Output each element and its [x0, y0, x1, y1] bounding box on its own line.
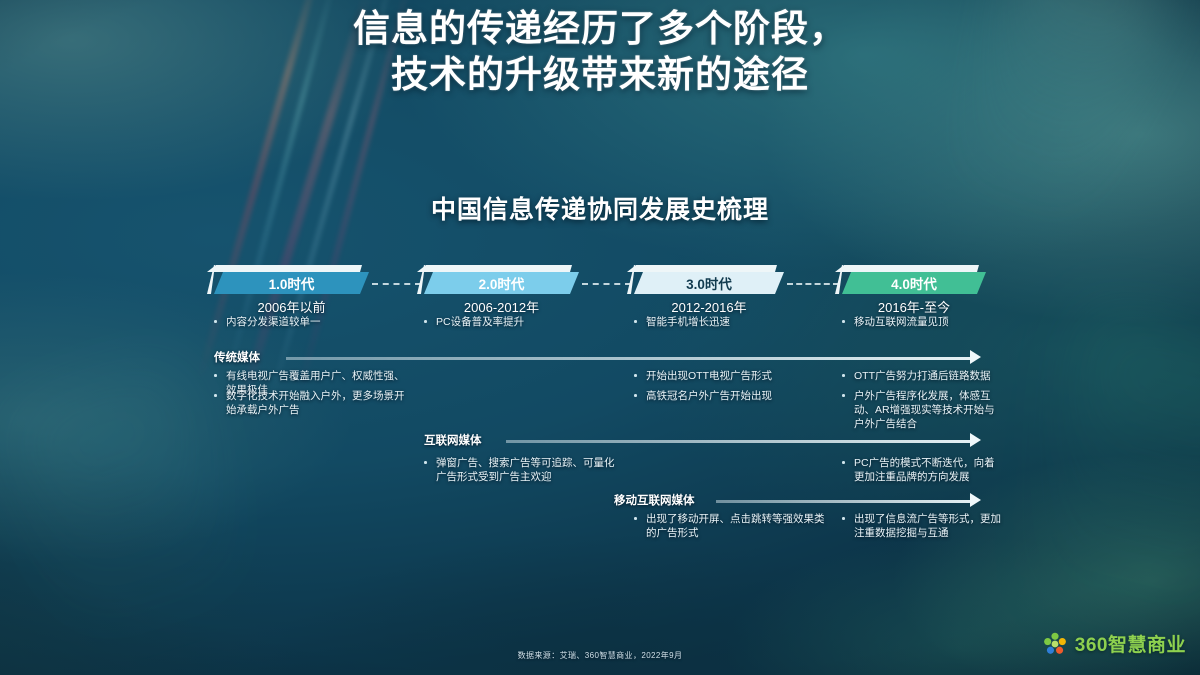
track-2-bullet-1: 弹窗广告、搜索广告等可追踪、可量化广告形式受到广告主欢迎	[424, 456, 624, 484]
track-label-1: 传统媒体	[214, 349, 260, 365]
track-arrow-line-1	[286, 357, 970, 360]
track-arrow-head-3	[970, 493, 981, 507]
bullet-dot	[214, 374, 217, 377]
track-1-bullet-6: 户外广告程序化发展，体感互动、AR增强现实等技术开始与户外广告结合	[842, 389, 1002, 432]
era-4-summary-bullet: 移动互联网流量见顶	[842, 315, 1002, 329]
bullet-dot	[424, 461, 427, 464]
era-years-3: 2012-2016年	[634, 297, 784, 316]
page-title-line-1: 信息的传递经历了多个阶段，	[0, 6, 1200, 52]
bullet-text: 移动互联网流量见顶	[842, 315, 1002, 329]
era-2-summary-bullet: PC设备普及率提升	[424, 315, 624, 329]
track-3-bullet-2: 出现了信息流广告等形式，更加注重数据挖掘与互通	[842, 512, 1002, 540]
era-flag-accent	[207, 265, 362, 272]
track-arrow-line-3	[716, 500, 970, 503]
bullet-text: PC设备普及率提升	[424, 315, 624, 329]
era-years-2: 2006-2012年	[424, 297, 579, 316]
pinwheel-icon	[1042, 631, 1068, 657]
bullet-dot	[842, 374, 845, 377]
bullet-dot	[842, 517, 845, 520]
timeline-era-2[interactable]: 2.0时代2006-2012年	[424, 272, 579, 294]
bullet-text: 内容分发渠道较单一	[214, 315, 414, 329]
track-3: 移动互联网媒体	[0, 492, 1000, 508]
track-label-2: 互联网媒体	[424, 432, 482, 448]
bullet-dot	[842, 320, 845, 323]
bullet-dot	[842, 394, 845, 397]
bullet-dot	[214, 320, 217, 323]
track-2-bullet-2: PC广告的模式不断迭代，向着更加注重品牌的方向发展	[842, 456, 1002, 484]
page-title: 信息的传递经历了多个阶段， 技术的升级带来新的途径	[0, 6, 1200, 98]
bullet-text: 弹窗广告、搜索广告等可追踪、可量化广告形式受到广告主欢迎	[424, 456, 624, 484]
bullet-dot	[634, 394, 637, 397]
bullet-text: 户外广告程序化发展，体感互动、AR增强现实等技术开始与户外广告结合	[842, 389, 1002, 432]
bullet-text: 出现了移动开屏、点击跳转等强效果类的广告形式	[634, 512, 834, 540]
bullet-dot	[634, 374, 637, 377]
era-connector-1	[372, 283, 421, 285]
bullet-dot	[842, 461, 845, 464]
bullet-text: PC广告的模式不断迭代，向着更加注重品牌的方向发展	[842, 456, 1002, 484]
bullet-dot	[214, 394, 217, 397]
era-years-1: 2006年以前	[214, 297, 369, 316]
track-3-bullet-1: 出现了移动开屏、点击跳转等强效果类的广告形式	[634, 512, 834, 540]
era-3-summary-bullet: 智能手机增长迅速	[634, 315, 834, 329]
track-1-bullet-5: OTT广告努力打通后链路数据	[842, 369, 1002, 383]
brand-logo: 360智慧商业	[1042, 630, 1186, 657]
era-flag-accent	[835, 265, 979, 272]
track-1-bullet-3: 开始出现OTT电视广告形式	[634, 369, 834, 383]
era-connector-3	[787, 283, 839, 285]
track-2: 互联网媒体	[0, 432, 1000, 448]
bullet-dot	[634, 517, 637, 520]
era-flag-accent	[627, 265, 777, 272]
era-label-4: 4.0时代	[842, 272, 986, 294]
page-title-line-2: 技术的升级带来新的途径	[0, 52, 1200, 98]
era-connector-2	[582, 283, 631, 285]
bullet-dot	[634, 320, 637, 323]
track-arrow-head-2	[970, 433, 981, 447]
bullet-text: 高铁冠名户外广告开始出现	[634, 389, 834, 403]
bullet-text: OTT广告努力打通后链路数据	[842, 369, 1002, 383]
bullet-text: 出现了信息流广告等形式，更加注重数据挖掘与互通	[842, 512, 1002, 540]
track-1: 传统媒体	[0, 349, 1000, 365]
brand-name: 360智慧商业	[1075, 630, 1186, 657]
timeline-era-3[interactable]: 3.0时代2012-2016年	[634, 272, 784, 294]
bullet-dot	[424, 320, 427, 323]
era-label-1: 1.0时代	[214, 272, 369, 294]
track-1-bullet-4: 高铁冠名户外广告开始出现	[634, 389, 834, 403]
timeline-era-1[interactable]: 1.0时代2006年以前	[214, 272, 369, 294]
era-1-summary-bullet: 内容分发渠道较单一	[214, 315, 414, 329]
bullet-text: 智能手机增长迅速	[634, 315, 834, 329]
track-1-bullet-2: 数字化技术开始融入户外，更多场景开始承载户外广告	[214, 389, 414, 417]
source-note: 数据来源：艾瑞、360智慧商业，2022年9月	[0, 650, 1200, 661]
era-label-3: 3.0时代	[634, 272, 784, 294]
era-flag-accent	[417, 265, 572, 272]
bullet-text: 开始出现OTT电视广告形式	[634, 369, 834, 383]
era-label-2: 2.0时代	[424, 272, 579, 294]
bullet-text: 数字化技术开始融入户外，更多场景开始承载户外广告	[214, 389, 414, 417]
chart-subtitle: 中国信息传递协同发展史梳理	[0, 190, 1200, 226]
track-arrow-line-2	[506, 440, 970, 443]
track-arrow-head-1	[970, 350, 981, 364]
track-label-3: 移动互联网媒体	[614, 492, 695, 508]
era-years-4: 2016年-至今	[842, 297, 986, 316]
timeline-era-4[interactable]: 4.0时代2016年-至今	[842, 272, 986, 294]
timeline-era-header-row: 1.0时代2006年以前2.0时代2006-2012年3.0时代2012-201…	[214, 272, 986, 294]
